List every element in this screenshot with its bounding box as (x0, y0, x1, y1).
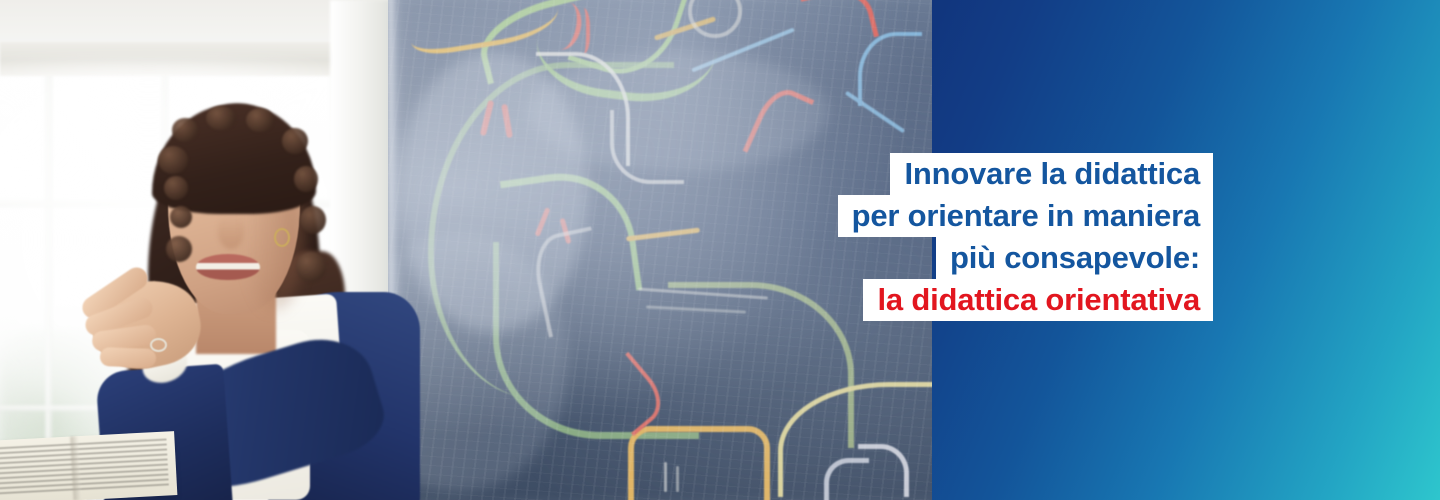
chalk-mark-red (501, 104, 513, 139)
chalk-mark-white (664, 462, 667, 492)
hair-curl (296, 252, 326, 282)
chalk-mark-white (528, 226, 611, 337)
hair-curl (246, 108, 274, 132)
chalk-mark-red (543, 0, 585, 53)
chalk-mark-green (428, 62, 674, 398)
headline-line-3: più consapevole: (936, 237, 1213, 279)
book-text-lines (0, 438, 169, 497)
chalk-mark-white (858, 444, 909, 497)
chalk-mark-yellow (626, 228, 700, 242)
chalk-mark-red (590, 352, 672, 436)
chalk-mark-green (500, 164, 642, 307)
chalk-dust-smudge (528, 52, 828, 172)
headline-line-1: Innovare la didattica (890, 153, 1213, 195)
chalk-mark-white (824, 458, 869, 500)
chalk-mark-yellow (404, 0, 562, 58)
headline-line-2: per orientare in maniera (838, 195, 1213, 237)
chalk-mark-white (536, 52, 630, 166)
hero-photo (0, 0, 940, 500)
teacher-figure (0, 0, 420, 500)
earring (274, 228, 290, 247)
chalk-mark-green (668, 282, 854, 448)
little-finger (100, 347, 157, 368)
hair-curl (282, 128, 308, 154)
chalk-mark-yellow-box (628, 426, 770, 500)
chalk-mark-red (743, 82, 815, 169)
chalk-mark-formula (688, 0, 742, 38)
headline-block: Innovare la didattica per orientare in m… (838, 153, 1213, 321)
chalk-mark-white (676, 466, 679, 492)
hair-curl (294, 166, 318, 192)
chalk-mark-green (531, 0, 725, 110)
hair-curl (172, 118, 198, 142)
chalk-mark-blue (845, 91, 905, 133)
hair-curl (170, 206, 192, 228)
hair-curl (164, 176, 188, 200)
hair-curl (300, 206, 326, 234)
chalk-mark-yellow (778, 382, 940, 497)
chalk-mark-red (560, 218, 572, 244)
finger-ring (150, 338, 167, 352)
open-book (0, 431, 178, 500)
chalk-mark-red (574, 8, 590, 54)
hair-curl (158, 146, 188, 174)
hero-banner: Innovare la didattica per orientare in m… (0, 0, 1440, 500)
chalk-mark-green (472, 0, 620, 84)
mouth (196, 254, 260, 280)
chalk-mark-yellow (654, 16, 716, 41)
chalk-mark-white (646, 305, 746, 313)
headline-line-4: la didattica orientativa (863, 279, 1213, 321)
chalk-mark-white (638, 287, 768, 299)
chalk-mark-blue (858, 32, 922, 106)
chalk-dust-smudge (398, 52, 588, 332)
chalk-mark-blue (691, 28, 794, 73)
nose (218, 215, 244, 249)
chalk-mark-red-aa (800, 0, 879, 52)
hair-curl (206, 106, 236, 130)
hair-curl (166, 236, 192, 262)
chalk-mark-green (493, 242, 699, 439)
chalk-mark-white (610, 110, 684, 184)
chalk-mark-red (535, 207, 551, 237)
chalk-mark-red (480, 100, 495, 136)
chalk-mark-green (568, 0, 694, 89)
